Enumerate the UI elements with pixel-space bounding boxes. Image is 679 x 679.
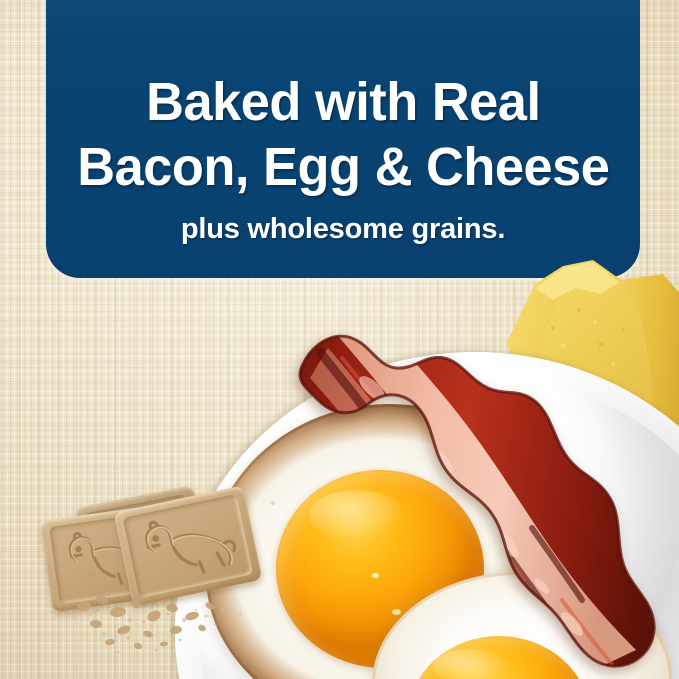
subheadline: plus wholesome grains.: [181, 215, 505, 244]
biscuit-crumbs: [60, 586, 280, 666]
bacon-strip: [280, 318, 679, 679]
headline-line-1: Baked with Real: [146, 75, 540, 129]
headline-banner: Baked with Real Bacon, Egg & Cheese plus…: [46, 0, 640, 278]
headline-line-2: Bacon, Egg & Cheese: [77, 140, 609, 194]
product-feature-image: Baked with Real Bacon, Egg & Cheese plus…: [0, 0, 679, 679]
